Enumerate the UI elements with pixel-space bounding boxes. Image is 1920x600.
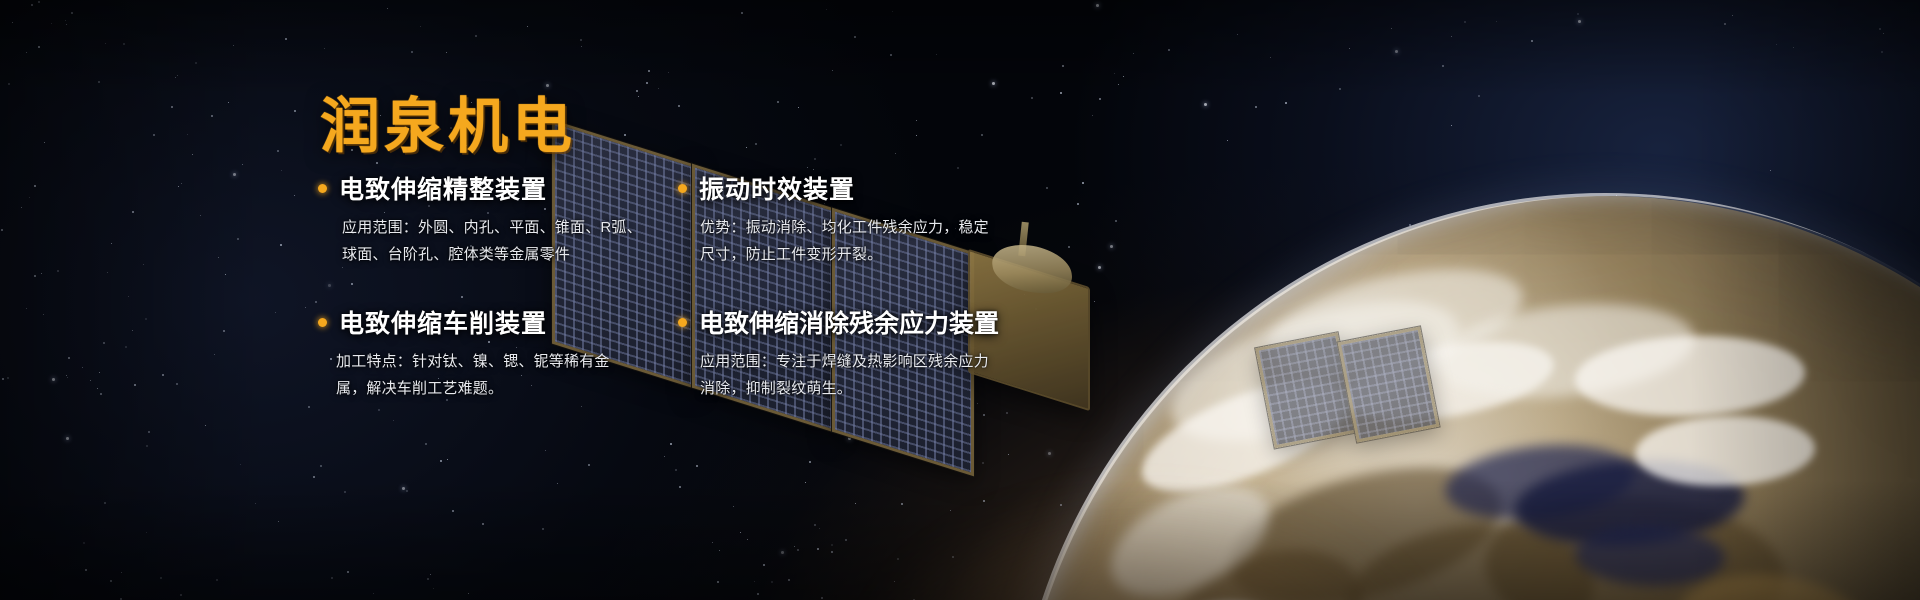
feature-title: 电致伸缩车削装置 [339, 304, 547, 340]
feature-heading: 电致伸缩车削装置 [318, 304, 652, 340]
feature-title: 电致伸缩消除残余应力装置 [699, 304, 999, 340]
feature-heading: 振动时效装置 [678, 170, 1012, 206]
bullet-dot-icon [678, 184, 687, 193]
bullet-dot-icon [318, 318, 327, 327]
feature-description: 应用范围：外圆、内孔、平面、锥面、R弧、球面、台阶孔、腔体类等金属零件 [342, 214, 642, 268]
brand-title: 润泉机电 [320, 78, 576, 165]
feature-description: 应用范围：专注于焊缝及热影响区残余应力消除，抑制裂纹萌生。 [700, 348, 1000, 402]
banner-content: 润泉机电 电致伸缩精整装置 应用范围：外圆、内孔、平面、锥面、R弧、球面、台阶孔… [0, 0, 1920, 600]
feature-block-electrostrictive-stress-relief[interactable]: 电致伸缩消除残余应力装置 应用范围：专注于焊缝及热影响区残余应力消除，抑制裂纹萌… [672, 304, 1012, 402]
bullet-dot-icon [678, 318, 687, 327]
feature-grid: 电致伸缩精整装置 应用范围：外圆、内孔、平面、锥面、R弧、球面、台阶孔、腔体类等… [318, 170, 1018, 402]
feature-heading: 电致伸缩消除残余应力装置 [678, 304, 1012, 340]
feature-block-vibration-aging[interactable]: 振动时效装置 优势：振动消除、均化工件残余应力，稳定尺寸，防止工件变形开裂。 [672, 170, 1012, 268]
feature-description: 加工特点：针对钛、镍、锶、铌等稀有金属，解决车削工艺难题。 [336, 348, 636, 402]
feature-description: 优势：振动消除、均化工件残余应力，稳定尺寸，防止工件变形开裂。 [700, 214, 1000, 268]
hero-banner: 润泉机电 电致伸缩精整装置 应用范围：外圆、内孔、平面、锥面、R弧、球面、台阶孔… [0, 0, 1920, 600]
feature-row-2: 电致伸缩车削装置 加工特点：针对钛、镍、锶、铌等稀有金属，解决车削工艺难题。 电… [318, 304, 1018, 402]
feature-row-1: 电致伸缩精整装置 应用范围：外圆、内孔、平面、锥面、R弧、球面、台阶孔、腔体类等… [318, 170, 1018, 268]
row-spacer [318, 268, 1018, 304]
feature-block-electrostrictive-turning[interactable]: 电致伸缩车削装置 加工特点：针对钛、镍、锶、铌等稀有金属，解决车削工艺难题。 [318, 304, 658, 402]
feature-title: 电致伸缩精整装置 [339, 170, 547, 206]
feature-heading: 电致伸缩精整装置 [318, 170, 652, 206]
feature-block-electrostrictive-finishing[interactable]: 电致伸缩精整装置 应用范围：外圆、内孔、平面、锥面、R弧、球面、台阶孔、腔体类等… [318, 170, 658, 268]
bullet-dot-icon [318, 184, 327, 193]
feature-title: 振动时效装置 [699, 170, 855, 206]
